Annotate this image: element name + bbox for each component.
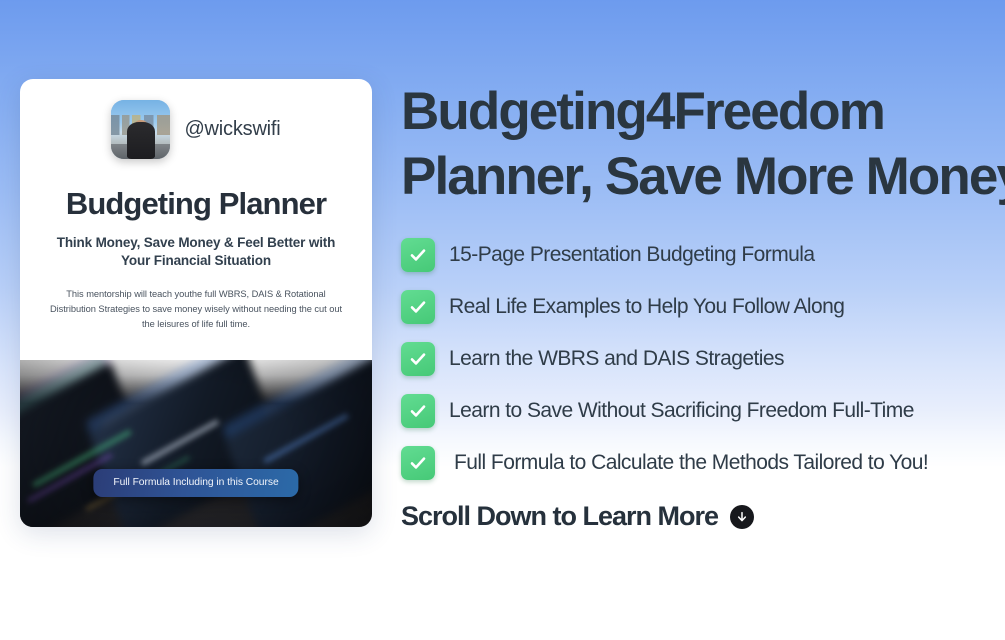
list-item: Learn the WBRS and DAIS Strageties	[401, 333, 1001, 385]
list-item: 15-Page Presentation Budgeting Formula	[401, 229, 1001, 281]
list-item-label: Learn to Save Without Sacrificing Freedo…	[449, 399, 914, 423]
card-subtitle: Think Money, Save Money & Feel Better wi…	[54, 234, 338, 270]
product-card: @wickswifi Budgeting Planner Think Money…	[20, 79, 372, 527]
check-square-icon	[401, 394, 435, 428]
card-title: Budgeting Planner	[20, 186, 372, 222]
check-square-icon	[401, 446, 435, 480]
full-formula-button[interactable]: Full Formula Including in this Course	[93, 469, 298, 497]
headline-line-1: Budgeting4Freedom	[401, 80, 1001, 145]
scroll-down-label: Scroll Down to Learn More	[401, 501, 718, 532]
course-preview-image	[20, 360, 372, 527]
avatar	[111, 100, 170, 159]
list-item: Learn to Save Without Sacrificing Freedo…	[401, 385, 1001, 437]
list-item-label: Full Formula to Calculate the Methods Ta…	[454, 451, 928, 475]
check-square-icon	[401, 290, 435, 324]
scroll-down-prompt[interactable]: Scroll Down to Learn More	[401, 501, 1001, 532]
check-square-icon	[401, 238, 435, 272]
list-item-label: Real Life Examples to Help You Follow Al…	[449, 295, 844, 319]
feature-list: 15-Page Presentation Budgeting Formula R…	[401, 229, 1001, 489]
list-item: Full Formula to Calculate the Methods Ta…	[401, 437, 1001, 489]
card-description: This mentorship will teach youthe full W…	[47, 287, 345, 332]
headline-line-2: Planner, Save More Money	[401, 145, 1001, 210]
arrow-down-circle-icon[interactable]	[730, 505, 754, 529]
account-handle: @wickswifi	[184, 118, 280, 141]
list-item: Real Life Examples to Help You Follow Al…	[401, 281, 1001, 333]
list-item-label: 15-Page Presentation Budgeting Formula	[449, 243, 815, 267]
check-square-icon	[401, 342, 435, 376]
promo-content: Budgeting4Freedom Planner, Save More Mon…	[401, 80, 1001, 532]
list-item-label: Learn the WBRS and DAIS Strageties	[449, 347, 784, 371]
promo-page: @wickswifi Budgeting Planner Think Money…	[0, 0, 1005, 640]
card-header: @wickswifi	[20, 100, 372, 159]
